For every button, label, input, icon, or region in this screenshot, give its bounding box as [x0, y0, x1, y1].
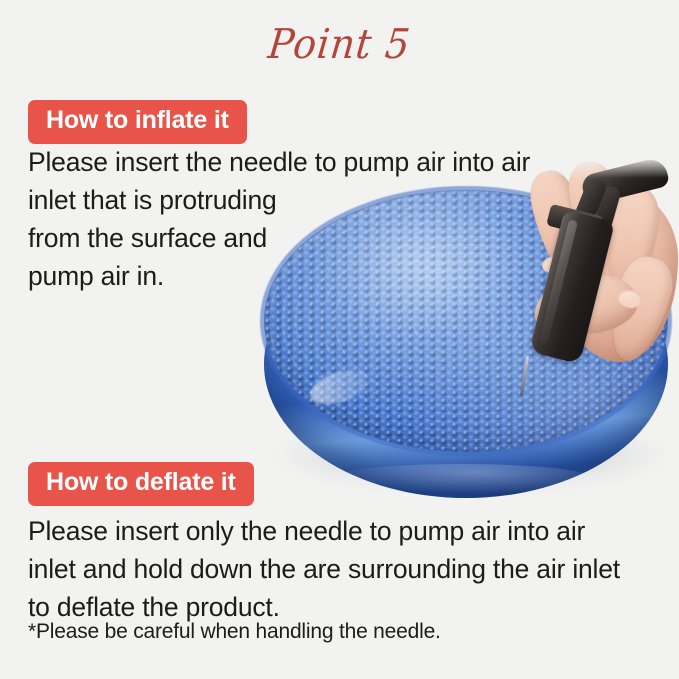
deflate-instructions: Please insert only the needle to pump ai… [28, 512, 648, 626]
badge-how-to-deflate: How to deflate it [28, 462, 254, 506]
needle-safety-note: *Please be careful when handling the nee… [28, 618, 441, 646]
inflate-instructions: Please insert the needle to pump air int… [28, 143, 588, 295]
instruction-page: Point 5 How to infl [0, 0, 679, 679]
page-title: Point 5 [0, 20, 679, 68]
badge-how-to-inflate: How to inflate it [28, 100, 247, 144]
